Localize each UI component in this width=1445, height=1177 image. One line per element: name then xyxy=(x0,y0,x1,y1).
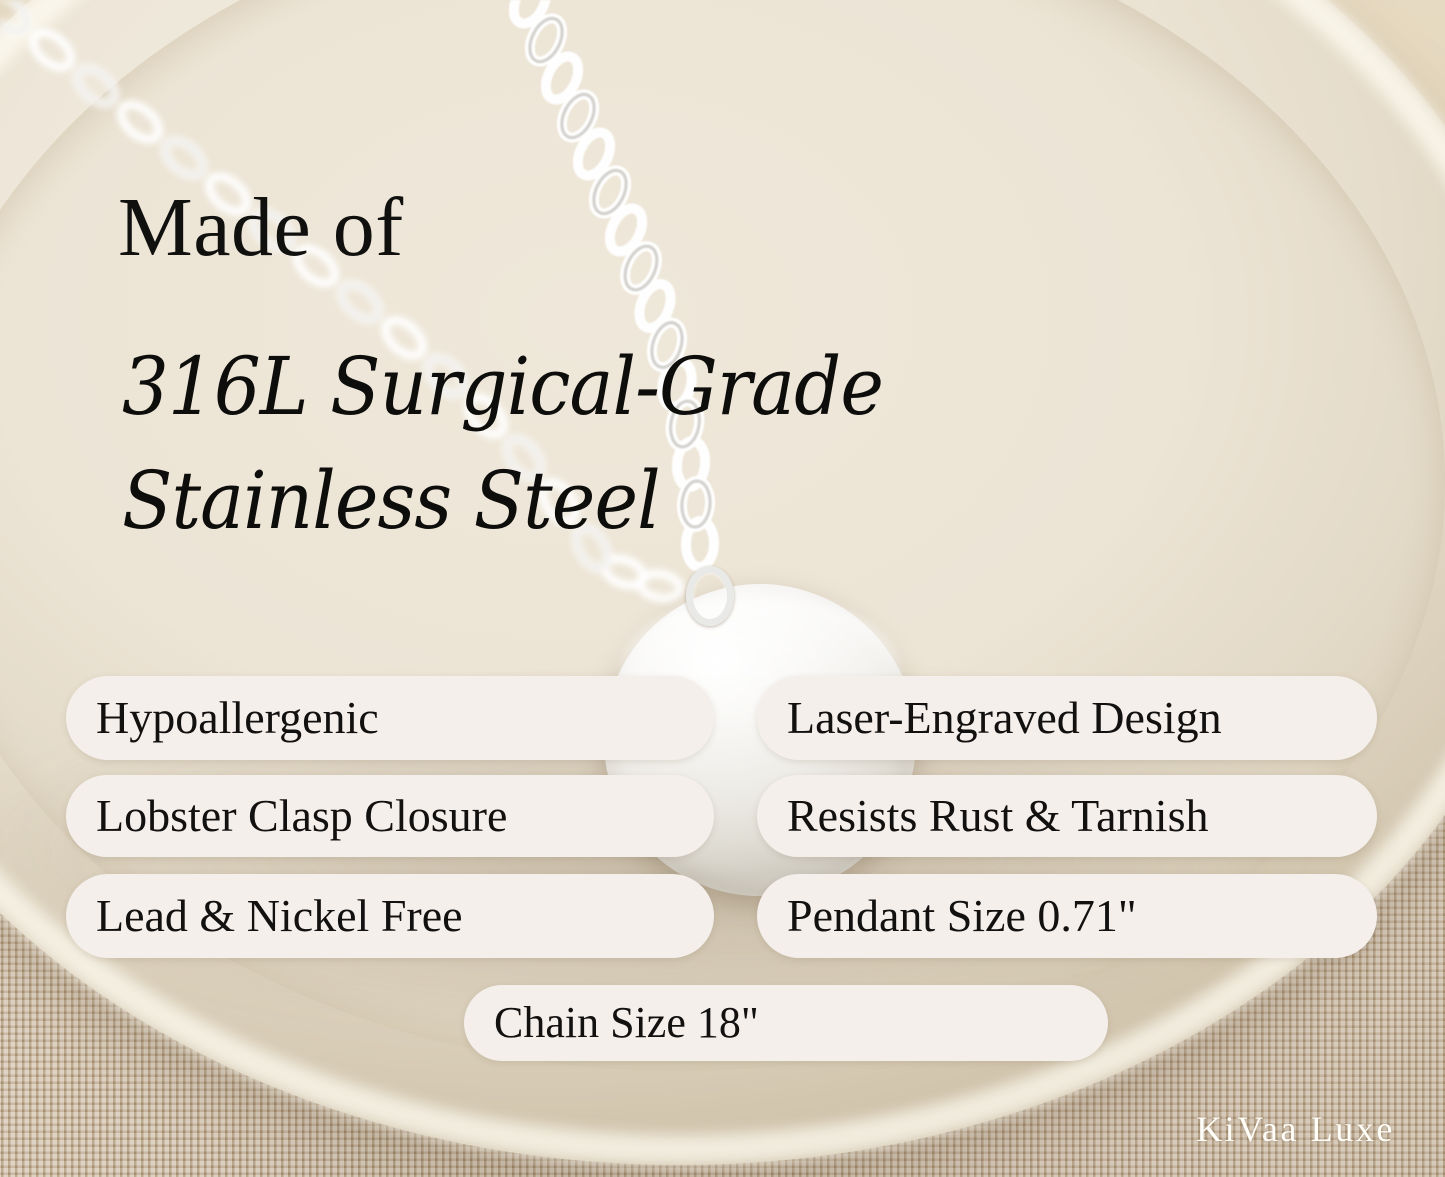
feature-pill-chain-size: Chain Size 18" xyxy=(464,985,1108,1061)
feature-pill-hypoallergenic: Hypoallergenic xyxy=(66,676,714,760)
feature-pill-label: Hypoallergenic xyxy=(96,695,379,741)
feature-pill-lead-nickel-free: Lead & Nickel Free xyxy=(66,874,714,958)
eyebrow-text: Made of xyxy=(118,186,404,270)
feature-pill-label: Resists Rust & Tarnish xyxy=(787,793,1208,839)
product-feature-graphic: Made of 316L Surgical-Grade Stainless St… xyxy=(0,0,1445,1177)
feature-pill-laser-engraved-design: Laser-Engraved Design xyxy=(757,676,1377,760)
pendant-jump-ring xyxy=(686,566,734,626)
feature-pill-lobster-clasp-closure: Lobster Clasp Closure xyxy=(66,775,714,857)
headline-line-1: 316L Surgical-Grade xyxy=(122,340,883,433)
feature-pill-pendant-size: Pendant Size 0.71" xyxy=(757,874,1377,958)
feature-pill-label: Chain Size 18" xyxy=(494,1001,759,1045)
feature-pill-label: Lobster Clasp Closure xyxy=(96,793,507,839)
page-title: 316L Surgical-Grade Stainless Steel xyxy=(122,330,1005,557)
feature-pill-label: Laser-Engraved Design xyxy=(787,695,1222,741)
feature-pill-resists-rust-tarnish: Resists Rust & Tarnish xyxy=(757,775,1377,857)
feature-pill-label: Lead & Nickel Free xyxy=(96,893,463,939)
brand-wordmark: KiVaa Luxe xyxy=(1196,1108,1395,1150)
feature-pill-label: Pendant Size 0.71" xyxy=(787,893,1137,939)
headline-line-2: Stainless Steel xyxy=(122,444,1005,558)
